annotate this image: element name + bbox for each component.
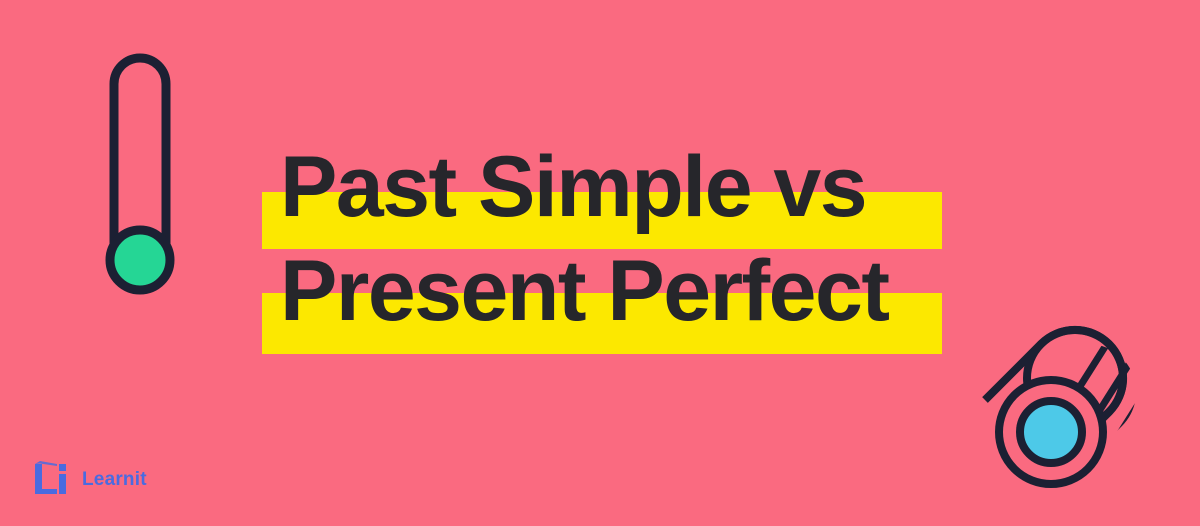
brand-logo[interactable]: Learnit <box>30 458 147 500</box>
title-line-2-text: Present Perfect <box>280 236 980 346</box>
banner-canvas: Past Simple vs Present Perfect <box>0 0 1200 526</box>
thermometer-shape <box>104 48 176 296</box>
page-title: Past Simple vs Present Perfect <box>262 132 952 346</box>
letter-i-stem <box>59 474 66 494</box>
book-base <box>35 489 57 494</box>
title-line-1: Past Simple vs <box>262 132 952 242</box>
title-line-2: Present Perfect <box>262 236 952 346</box>
brand-name: Learnit <box>82 470 147 489</box>
thermometer-icon <box>104 48 176 296</box>
thermometer-bulb <box>110 230 170 290</box>
open-book-li-icon <box>30 458 72 500</box>
letter-i-dot <box>59 464 66 471</box>
cylinder-shape <box>996 336 1166 496</box>
cylinder-inner-circle <box>1020 401 1082 463</box>
cylinder-icon <box>996 336 1166 496</box>
title-line-1-text: Past Simple vs <box>280 132 980 242</box>
